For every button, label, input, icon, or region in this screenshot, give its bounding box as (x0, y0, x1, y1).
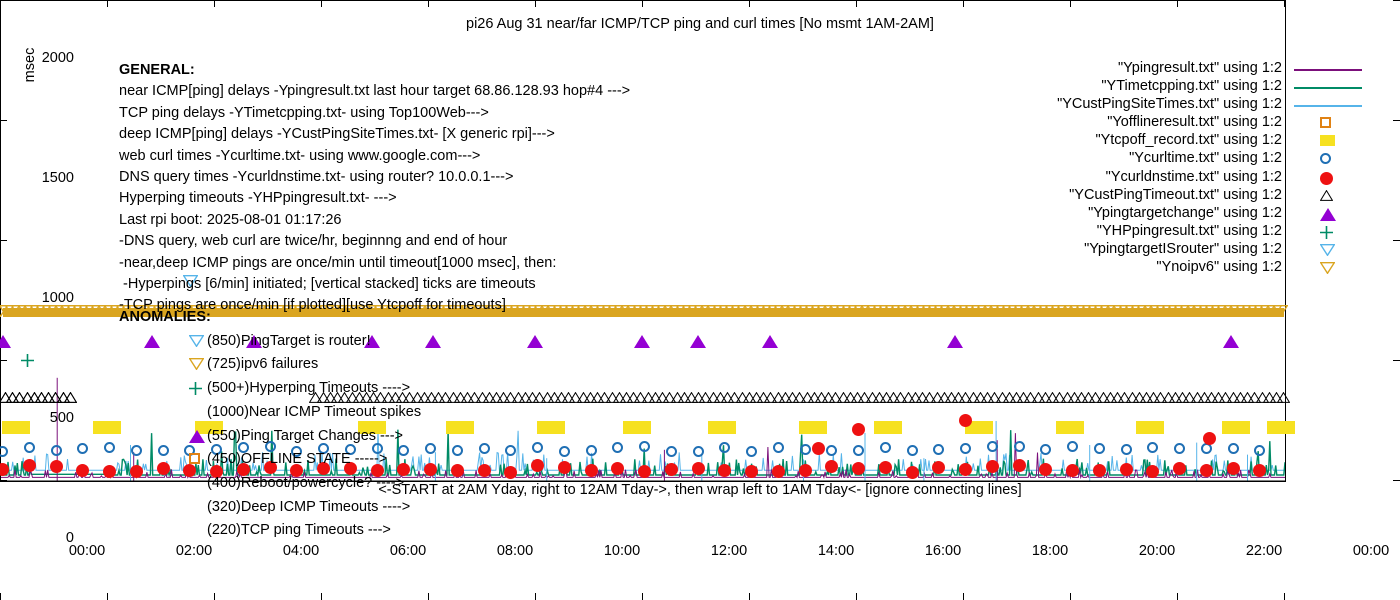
anomaly-line-label: (400)Reboot/powercycle? ----> (207, 475, 404, 491)
dns-time-marker (959, 414, 972, 427)
tcp-timeout-bar (874, 421, 902, 434)
dns-time-marker (424, 463, 437, 476)
legend-item-label: "YCustPingSiteTimes.txt" using 1:2 (1057, 96, 1282, 112)
ping-target-change-marker (527, 335, 543, 348)
y-tick-label: 500 (50, 410, 74, 426)
ping-target-change-marker (947, 335, 963, 348)
general-line: DNS query times -Ycurldnstime.txt- using… (119, 167, 630, 188)
legend-item-key (1286, 259, 1370, 277)
y-tick-label: 1000 (42, 290, 74, 306)
legend-item-label: "Ycurldnstime.txt" using 1:2 (1106, 169, 1282, 185)
anomaly-line: (220)TCP ping Timeouts ---> (119, 519, 421, 543)
y-tick-mark (0, 240, 7, 241)
tcp-timeout-bar (623, 421, 651, 434)
dns-time-marker (692, 462, 705, 475)
dns-time-marker (906, 466, 919, 479)
legend-item-key (1286, 169, 1370, 187)
x-tick-mark (1284, 0, 1285, 7)
anomaly-line: (550)Ping Target Changes ---> (119, 425, 421, 449)
open-triangle-down-orange-icon (1320, 262, 1335, 274)
x-tick-mark (535, 0, 536, 7)
anomaly-line-label: (450)OFFLINE STATE -----> (207, 451, 387, 467)
anomalies-heading: ANOMALIES: (119, 306, 421, 330)
anomalies-notes-block: ANOMALIES:(850)PingTarget is router!(725… (119, 306, 421, 543)
y-tick-label: 1500 (42, 170, 74, 186)
anomaly-line: (400)Reboot/powercycle? ----> (119, 472, 421, 496)
filled-triangle-up-icon (189, 430, 205, 443)
tcp-timeout-bar (1136, 421, 1164, 434)
general-heading: GENERAL: (119, 60, 630, 81)
dns-time-marker (1200, 464, 1213, 477)
open-triangle-up-icon (1320, 190, 1333, 201)
plus-icon (1320, 226, 1333, 239)
y-tick-mark (0, 0, 7, 1)
dns-time-marker (1203, 432, 1216, 445)
x-tick-label: 20:00 (1139, 543, 1175, 559)
dns-time-marker (879, 461, 892, 474)
curl-time-marker (719, 442, 730, 453)
dns-time-marker (1120, 463, 1133, 476)
tcp-timeout-bar (1056, 421, 1084, 434)
x-tick-label: 10:00 (604, 543, 640, 559)
x-tick-label: 00:00 (69, 543, 105, 559)
general-sub-line: -near,deep ICMP pings are once/min until… (119, 253, 630, 274)
anomaly-line: (320)Deep ICMP Timeouts ----> (119, 496, 421, 520)
chart-canvas: pi26 Aug 31 near/far ICMP/TCP ping and c… (0, 0, 1400, 600)
dns-time-marker (986, 460, 999, 473)
legend-item: "YCustPingSiteTimes.txt" using 1:2 (930, 96, 1370, 114)
curl-time-marker (1121, 444, 1132, 455)
chart-title: pi26 Aug 31 near/far ICMP/TCP ping and c… (0, 16, 1400, 32)
x-tick-label: 18:00 (1032, 543, 1068, 559)
anomaly-line: (850)PingTarget is router! (119, 330, 421, 354)
curl-time-marker (104, 442, 115, 453)
general-sub-line: -DNS query, web curl are twice/hr, begin… (119, 231, 630, 252)
legend-item-key (1286, 187, 1370, 205)
legend-item: "YpingtargetISrouter" using 1:2 (930, 241, 1370, 259)
ping-target-change-marker (1223, 335, 1239, 348)
tcp-timeout-bar (1267, 421, 1286, 434)
x-tick-mark (214, 0, 215, 7)
x-tick-mark (0, 0, 1, 7)
tcp-timeout-bar (708, 421, 736, 434)
curl-time-marker (479, 443, 490, 454)
dns-time-marker (665, 463, 678, 476)
x-tick-label: 00:00 (1353, 543, 1389, 559)
dns-time-marker (799, 464, 812, 477)
legend-item: "YTimetcpping.txt" using 1:2 (930, 78, 1370, 96)
dns-time-marker (50, 460, 63, 473)
legend-item-label: "Ypingresult.txt" using 1:2 (1118, 60, 1282, 76)
x-tick-label: 22:00 (1246, 543, 1282, 559)
dns-time-marker (772, 465, 785, 478)
x-tick-label: 12:00 (711, 543, 747, 559)
tcp-timeout-bar (446, 421, 474, 434)
tcp-timeout-bar (799, 421, 827, 434)
anomaly-line: (500+)Hyperping Timeouts ----> (119, 377, 421, 401)
anomaly-line-label: (725)ipv6 failures (207, 356, 318, 372)
anomaly-line-label: (220)TCP ping Timeouts ---> (207, 522, 391, 538)
curl-time-marker (639, 441, 650, 452)
anomaly-line-label: (500+)Hyperping Timeouts ----> (207, 380, 410, 396)
legend-item-label: "Ycurltime.txt" using 1:2 (1129, 150, 1282, 166)
general-line: near ICMP[ping] delays -Ypingresult.txt … (119, 81, 630, 102)
legend-item: "Ytcpoff_record.txt" using 1:2 (930, 132, 1370, 150)
legend-item: "YCustPingTimeout.txt" using 1:2 (930, 187, 1370, 205)
y-axis: msec 0500100015002000 (0, 57, 84, 539)
x-tick-mark (1177, 0, 1178, 7)
legend-item-label: "Ynoipv6" using 1:2 (1156, 259, 1282, 275)
curl-time-marker (800, 444, 811, 455)
legend-item-label: "YCustPingTimeout.txt" using 1:2 (1069, 187, 1282, 203)
open-triangle-down-lightblue-icon (189, 335, 204, 347)
legend-item: "Ycurldnstime.txt" using 1:2 (930, 169, 1370, 187)
dns-time-marker (932, 461, 945, 474)
x-tick-mark (963, 0, 964, 7)
deep-icmp-timeout-marker (64, 392, 77, 403)
legend-item: "Ypingresult.txt" using 1:2 (930, 60, 1370, 78)
x-tick-mark (749, 0, 750, 7)
ping-target-change-marker (425, 335, 441, 348)
legend-item: "Ynoipv6" using 1:2 (930, 259, 1370, 277)
general-line: web curl times -Ycurltime.txt- using www… (119, 146, 630, 167)
open-triangle-down-lightblue-icon (1320, 244, 1335, 256)
curl-time-marker (907, 445, 918, 456)
x-tick-label: 08:00 (497, 543, 533, 559)
legend-item-key (1286, 223, 1370, 241)
ping-target-change-marker (690, 335, 706, 348)
ping-target-change-marker (634, 335, 650, 348)
legend-item: "Ypingtargetchange" using 1:2 (930, 205, 1370, 223)
general-sub-line: -Hyperpings [6/min] initiated; [vertical… (119, 274, 630, 295)
curl-time-marker (666, 446, 677, 457)
curl-time-marker (425, 443, 436, 454)
legend-item: "Ycurltime.txt" using 1:2 (930, 150, 1370, 168)
legend-item-key (1286, 60, 1370, 78)
open-square-icon (189, 453, 200, 464)
curl-time-marker (693, 446, 704, 457)
anomaly-line: (1000)Near ICMP Timeout spikes (119, 401, 421, 425)
curl-time-marker (1254, 445, 1265, 456)
general-line: TCP ping delays -YTimetcpping.txt- using… (119, 103, 630, 124)
dns-time-marker (1093, 464, 1106, 477)
legend-item-key (1286, 96, 1370, 114)
x-tick-mark (856, 0, 857, 7)
y-tick-label: 2000 (42, 50, 74, 66)
legend-item-label: "Ypingtargetchange" using 1:2 (1088, 205, 1282, 221)
x-tick-label: 04:00 (283, 543, 319, 559)
curl-time-marker (746, 446, 757, 457)
legend-item-label: "YHPpingresult.txt" using 1:2 (1097, 223, 1282, 239)
anomaly-line-label: (850)PingTarget is router! (207, 333, 371, 349)
deep-icmp-timeout-marker (1277, 392, 1286, 403)
legend-item-key (1286, 150, 1370, 168)
open-circle-icon (1320, 153, 1331, 164)
tcp-timeout-bar (537, 421, 565, 434)
x-tick-mark (642, 0, 643, 7)
anomaly-line: (450)OFFLINE STATE -----> (119, 448, 421, 472)
hyperping-timeout-marker (21, 354, 34, 367)
open-triangle-down-orange-icon (189, 358, 204, 370)
legend-item: "YHPpingresult.txt" using 1:2 (930, 223, 1370, 241)
curl-time-marker (773, 442, 784, 453)
x-tick-mark (428, 0, 429, 7)
y-tick-mark (0, 480, 7, 481)
tcp-timeout-bar (93, 421, 121, 434)
general-notes-block: GENERAL:near ICMP[ping] delays -Ypingres… (119, 60, 630, 317)
line-teal-icon (1294, 87, 1362, 89)
tcp-timeout-bar (1222, 421, 1250, 434)
legend-item-label: "YTimetcpping.txt" using 1:2 (1101, 78, 1282, 94)
legend-item-label: "Yofflineresult.txt" using 1:2 (1107, 114, 1282, 130)
general-line: Last rpi boot: 2025-08-01 01:17:26 (119, 210, 630, 231)
filled-triangle-up-icon (1320, 208, 1336, 221)
x-tick-label: 14:00 (818, 543, 854, 559)
curl-time-marker (586, 445, 597, 456)
open-square-icon (1320, 117, 1331, 128)
dns-time-marker (1227, 462, 1240, 475)
curl-time-marker (51, 445, 62, 456)
dns-time-marker (1066, 464, 1079, 477)
filled-square-icon (1320, 135, 1335, 146)
legend-item-key (1286, 78, 1370, 96)
anomaly-line-label: (1000)Near ICMP Timeout spikes (207, 404, 421, 420)
y-axis-label: msec (22, 35, 38, 95)
anomaly-line: (725)ipv6 failures (119, 353, 421, 377)
legend-item-label: "Ytcpoff_record.txt" using 1:2 (1095, 132, 1282, 148)
legend-item: "Yofflineresult.txt" using 1:2 (930, 114, 1370, 132)
anomaly-line-label: (320)Deep ICMP Timeouts ----> (207, 499, 410, 515)
x-tick-mark (107, 0, 108, 7)
curl-time-marker (960, 443, 971, 454)
curl-time-marker (452, 445, 463, 456)
x-tick-label: 16:00 (925, 543, 961, 559)
legend-item-key (1286, 114, 1370, 132)
y-tick-mark (0, 360, 7, 361)
legend-item-key (1286, 132, 1370, 150)
line-purple-icon (1294, 69, 1362, 71)
x-tick-mark (1070, 0, 1071, 7)
general-line: deep ICMP[ping] delays -YCustPingSiteTim… (119, 124, 630, 145)
ping-target-change-marker (762, 335, 778, 348)
x-tick-label: 02:00 (176, 543, 212, 559)
plus-icon (189, 382, 202, 395)
legend-item-label: "YpingtargetISrouter" using 1:2 (1084, 241, 1282, 257)
y-tick-mark (0, 120, 7, 121)
x-tick-label: 06:00 (390, 543, 426, 559)
filled-circle-icon (1320, 172, 1333, 185)
line-lightblue-icon (1294, 105, 1362, 107)
dns-time-marker (745, 465, 758, 478)
curl-time-marker (987, 441, 998, 452)
x-tick-mark (321, 0, 322, 7)
general-line: Hyperping timeouts -YHPpingresult.txt- -… (119, 188, 630, 209)
tcp-timeout-bar (2, 421, 30, 434)
anomaly-line-label: (550)Ping Target Changes ---> (207, 428, 403, 444)
legend-item-key (1286, 205, 1370, 223)
curl-time-marker (559, 446, 570, 457)
curl-time-marker (1228, 443, 1239, 454)
ping-target-change-marker (0, 335, 11, 348)
chart-legend: "Ypingresult.txt" using 1:2"YTimetcpping… (930, 60, 1370, 277)
legend-item-key (1286, 241, 1370, 259)
